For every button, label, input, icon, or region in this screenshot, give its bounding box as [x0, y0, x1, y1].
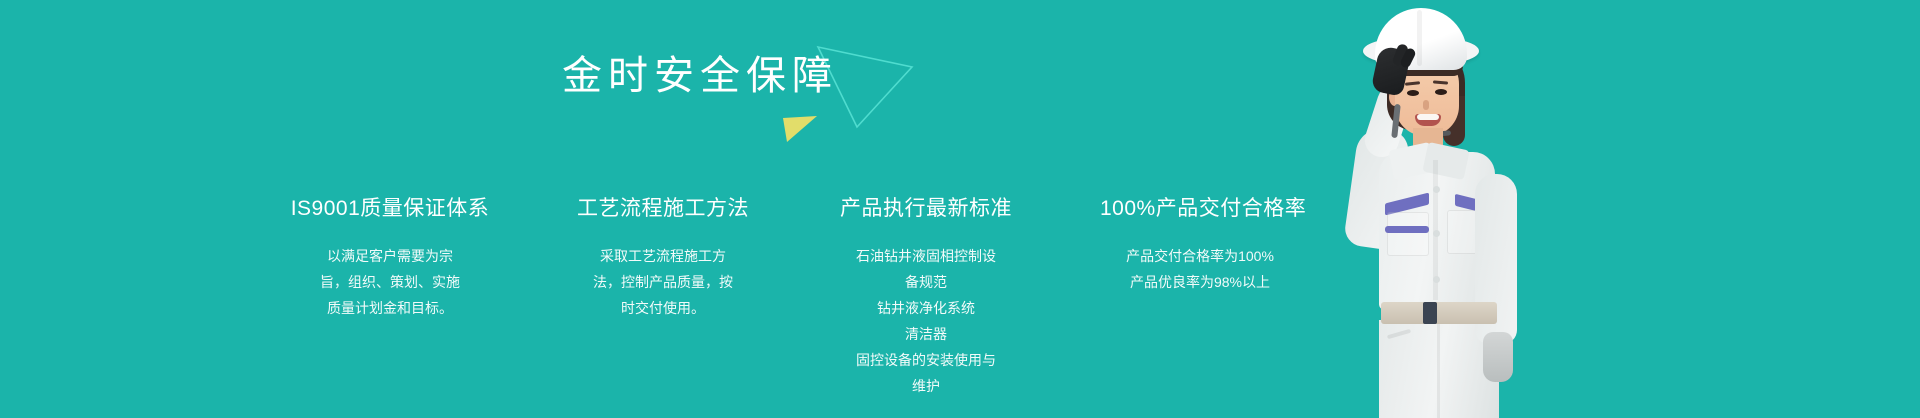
jacket-button: [1433, 276, 1440, 283]
feature-line: 石油钻井液固相控制设: [844, 244, 1009, 270]
feature-line: 采取工艺流程施工方: [588, 244, 738, 270]
jacket-button: [1433, 186, 1440, 193]
feature-line: 法，控制产品质量，按: [588, 270, 738, 296]
feature-body-3: 石油钻井液固相控制设 备规范 钻井液净化系统 清洁器 固控设备的安装使用与 维护: [844, 244, 1009, 399]
belt: [1381, 302, 1497, 324]
feature-column-1: IS9001质量保证体系 以满足客户需要为宗 旨，组织、策划、实施 质量计划金和…: [290, 195, 490, 322]
feature-heading-2: 工艺流程施工方法: [574, 195, 752, 222]
feature-body-1: 以满足客户需要为宗 旨，组织、策划、实施 质量计划金和目标。: [315, 244, 465, 322]
pocket-stripe: [1385, 226, 1429, 233]
pants-seam: [1437, 322, 1440, 418]
hard-hat-ridge: [1417, 10, 1422, 66]
feature-line: 产品优良率为98%以上: [1105, 270, 1295, 296]
chest-pocket-left: [1387, 212, 1429, 256]
eye-right: [1435, 89, 1447, 95]
feature-body-4: 产品交付合格率为100% 产品优良率为98%以上: [1105, 244, 1295, 296]
feature-line: 维护: [844, 374, 1009, 400]
feature-heading-3: 产品执行最新标准: [836, 195, 1016, 222]
feature-column-2: 工艺流程施工方法 采取工艺流程施工方 法，控制产品质量，按 时交付使用。: [574, 195, 752, 322]
belt-buckle: [1423, 302, 1437, 324]
feature-line: 钻井液净化系统: [844, 296, 1009, 322]
feature-columns: IS9001质量保证体系 以满足客户需要为宗 旨，组织、策划、实施 质量计划金和…: [290, 195, 1300, 400]
jacket-button: [1433, 230, 1440, 237]
feature-heading-1: IS9001质量保证体系: [290, 195, 490, 222]
page-title: 金时安全保障: [0, 50, 1400, 102]
yellow-triangle-icon: [783, 116, 817, 142]
feature-line: 时交付使用。: [588, 296, 738, 322]
promo-banner: 金时安全保障 IS9001质量保证体系 以满足客户需要为宗 旨，组织、策划、实施…: [0, 0, 1920, 418]
feature-line: 清洁器: [844, 322, 1009, 348]
eye-left: [1407, 90, 1419, 96]
worker-photo: [1345, 0, 1645, 418]
feature-line: 旨，组织、策划、实施: [315, 270, 465, 296]
feature-line: 产品交付合格率为100%: [1105, 244, 1295, 270]
feature-heading-4: 100%产品交付合格率: [1100, 195, 1300, 222]
feature-line: 以满足客户需要为宗: [315, 244, 465, 270]
feature-body-2: 采取工艺流程施工方 法，控制产品质量，按 时交付使用。: [588, 244, 738, 322]
feature-line: 质量计划金和目标。: [315, 296, 465, 322]
lowered-hand-glove: [1483, 332, 1513, 382]
feature-line: 固控设备的安装使用与: [844, 348, 1009, 374]
nose: [1423, 100, 1429, 110]
feature-line: 备规范: [844, 270, 1009, 296]
feature-column-3: 产品执行最新标准 石油钻井液固相控制设 备规范 钻井液净化系统 清洁器 固控设备…: [836, 195, 1016, 400]
mouth: [1415, 114, 1441, 126]
feature-column-4: 100%产品交付合格率 产品交付合格率为100% 产品优良率为98%以上: [1100, 195, 1300, 296]
teeth: [1417, 114, 1439, 120]
